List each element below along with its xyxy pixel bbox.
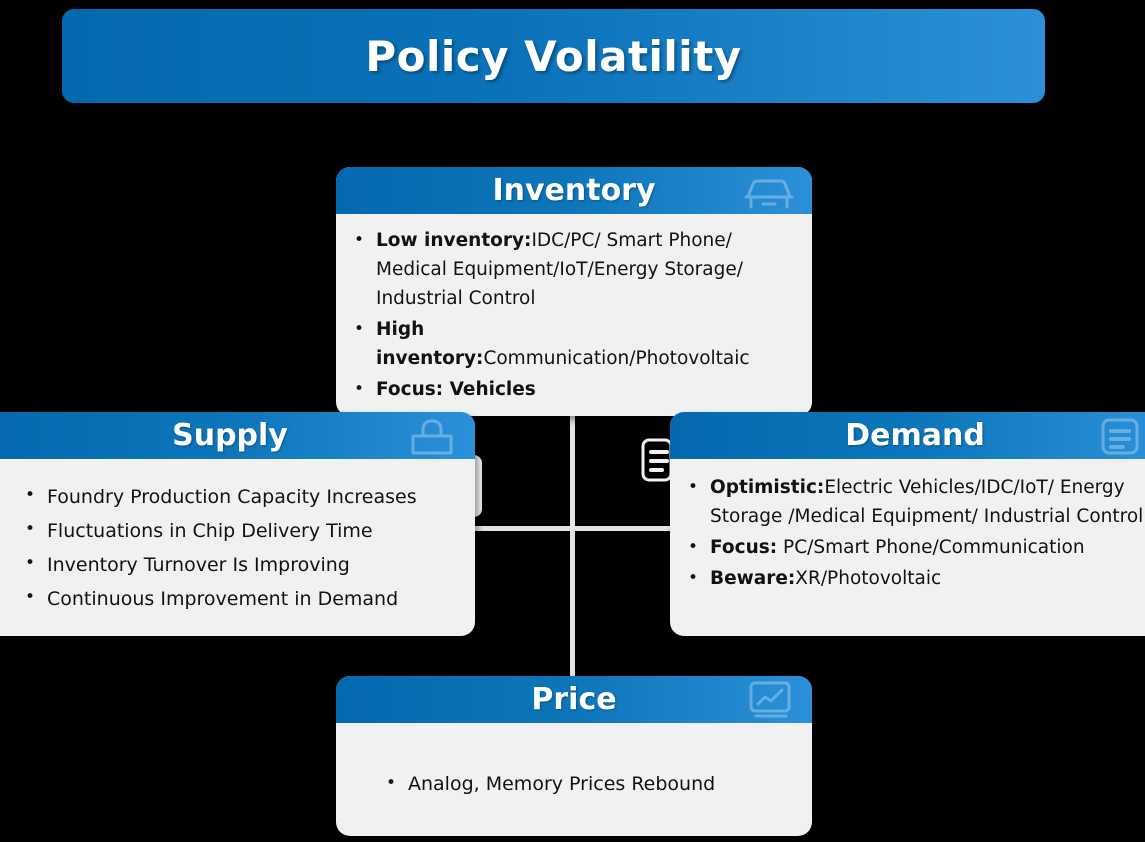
bullet-text: XR/Photovoltaic — [795, 568, 941, 589]
bullet-text: Continuous Improvement in Demand — [47, 588, 398, 610]
card-supply[interactable]: Supply Foundry Production Capacity Incre… — [0, 412, 475, 636]
card-demand[interactable]: Demand Optimistic:Electric Vehicles/IDC/… — [670, 412, 1145, 636]
list-item: Analog, Memory Prices Rebound — [378, 769, 798, 799]
bullet-label: Low inventory: — [376, 230, 531, 251]
card-price-body: Analog, Memory Prices Rebound — [336, 723, 812, 811]
bullet-label: High inventory: — [376, 319, 483, 369]
bullet-text: Foundry Production Capacity Increases — [47, 486, 417, 508]
list-item: Fluctuations in Chip Delivery Time — [17, 515, 461, 547]
card-price-bullet-list: Analog, Memory Prices Rebound — [378, 769, 798, 799]
connector-horizontal-line — [470, 526, 675, 531]
card-price-header: Price — [336, 676, 812, 723]
list-item: Low inventory:IDC/PC/ Smart Phone/ Medic… — [346, 226, 798, 313]
bullet-text: Analog, Memory Prices Rebound — [408, 773, 715, 795]
bullet-label: Optimistic: — [710, 477, 824, 498]
card-inventory-title: Inventory — [492, 173, 655, 208]
bullet-text: PC/Smart Phone/Communication — [777, 537, 1084, 558]
chart-monitor-icon — [742, 680, 796, 720]
list-item: Focus: Vehicles — [346, 375, 798, 404]
list-item: Optimistic:Electric Vehicles/IDC/IoT/ En… — [680, 473, 1145, 531]
card-inventory-bullet-list: Low inventory:IDC/PC/ Smart Phone/ Medic… — [346, 226, 798, 404]
card-inventory-header: Inventory — [336, 167, 812, 214]
card-inventory-body: Low inventory:IDC/PC/ Smart Phone/ Medic… — [336, 214, 812, 416]
card-demand-header: Demand — [670, 412, 1145, 459]
card-supply-title: Supply — [172, 418, 288, 453]
car-icon — [742, 171, 796, 211]
document-list-icon — [640, 437, 674, 483]
bullet-label: Focus: Vehicles — [376, 379, 536, 400]
list-item: Continuous Improvement in Demand — [17, 583, 461, 615]
card-demand-title: Demand — [845, 418, 985, 453]
shopping-bag-icon — [405, 416, 459, 456]
card-demand-bullet-list: Optimistic:Electric Vehicles/IDC/IoT/ En… — [680, 473, 1145, 593]
document-list-icon — [1090, 416, 1144, 456]
list-item: Inventory Turnover Is Improving — [17, 549, 461, 581]
page-title: Policy Volatility — [365, 32, 741, 81]
bullet-text: Fluctuations in Chip Delivery Time — [47, 520, 373, 542]
page-title-banner: Policy Volatility — [62, 9, 1045, 103]
card-price-title: Price — [531, 682, 616, 717]
card-price[interactable]: Price Analog, Memory Prices Rebound — [336, 676, 812, 836]
bullet-label: Beware: — [710, 568, 795, 589]
list-item: High inventory:Communication/Photovoltai… — [346, 315, 798, 373]
list-item: Beware:XR/Photovoltaic — [680, 564, 1145, 593]
card-supply-body: Foundry Production Capacity Increases Fl… — [0, 459, 475, 627]
list-item: Focus: PC/Smart Phone/Communication — [680, 533, 1145, 562]
list-item: Foundry Production Capacity Increases — [17, 481, 461, 513]
bullet-label: Focus: — [710, 537, 777, 558]
bullet-text: Communication/Photovoltaic — [483, 348, 749, 369]
card-inventory[interactable]: Inventory Low inventory:IDC/PC/ Smart Ph… — [336, 167, 812, 416]
card-demand-body: Optimistic:Electric Vehicles/IDC/IoT/ En… — [670, 459, 1145, 605]
card-supply-header: Supply — [0, 412, 475, 459]
bullet-text: Inventory Turnover Is Improving — [47, 554, 350, 576]
card-supply-bullet-list: Foundry Production Capacity Increases Fl… — [17, 481, 461, 615]
